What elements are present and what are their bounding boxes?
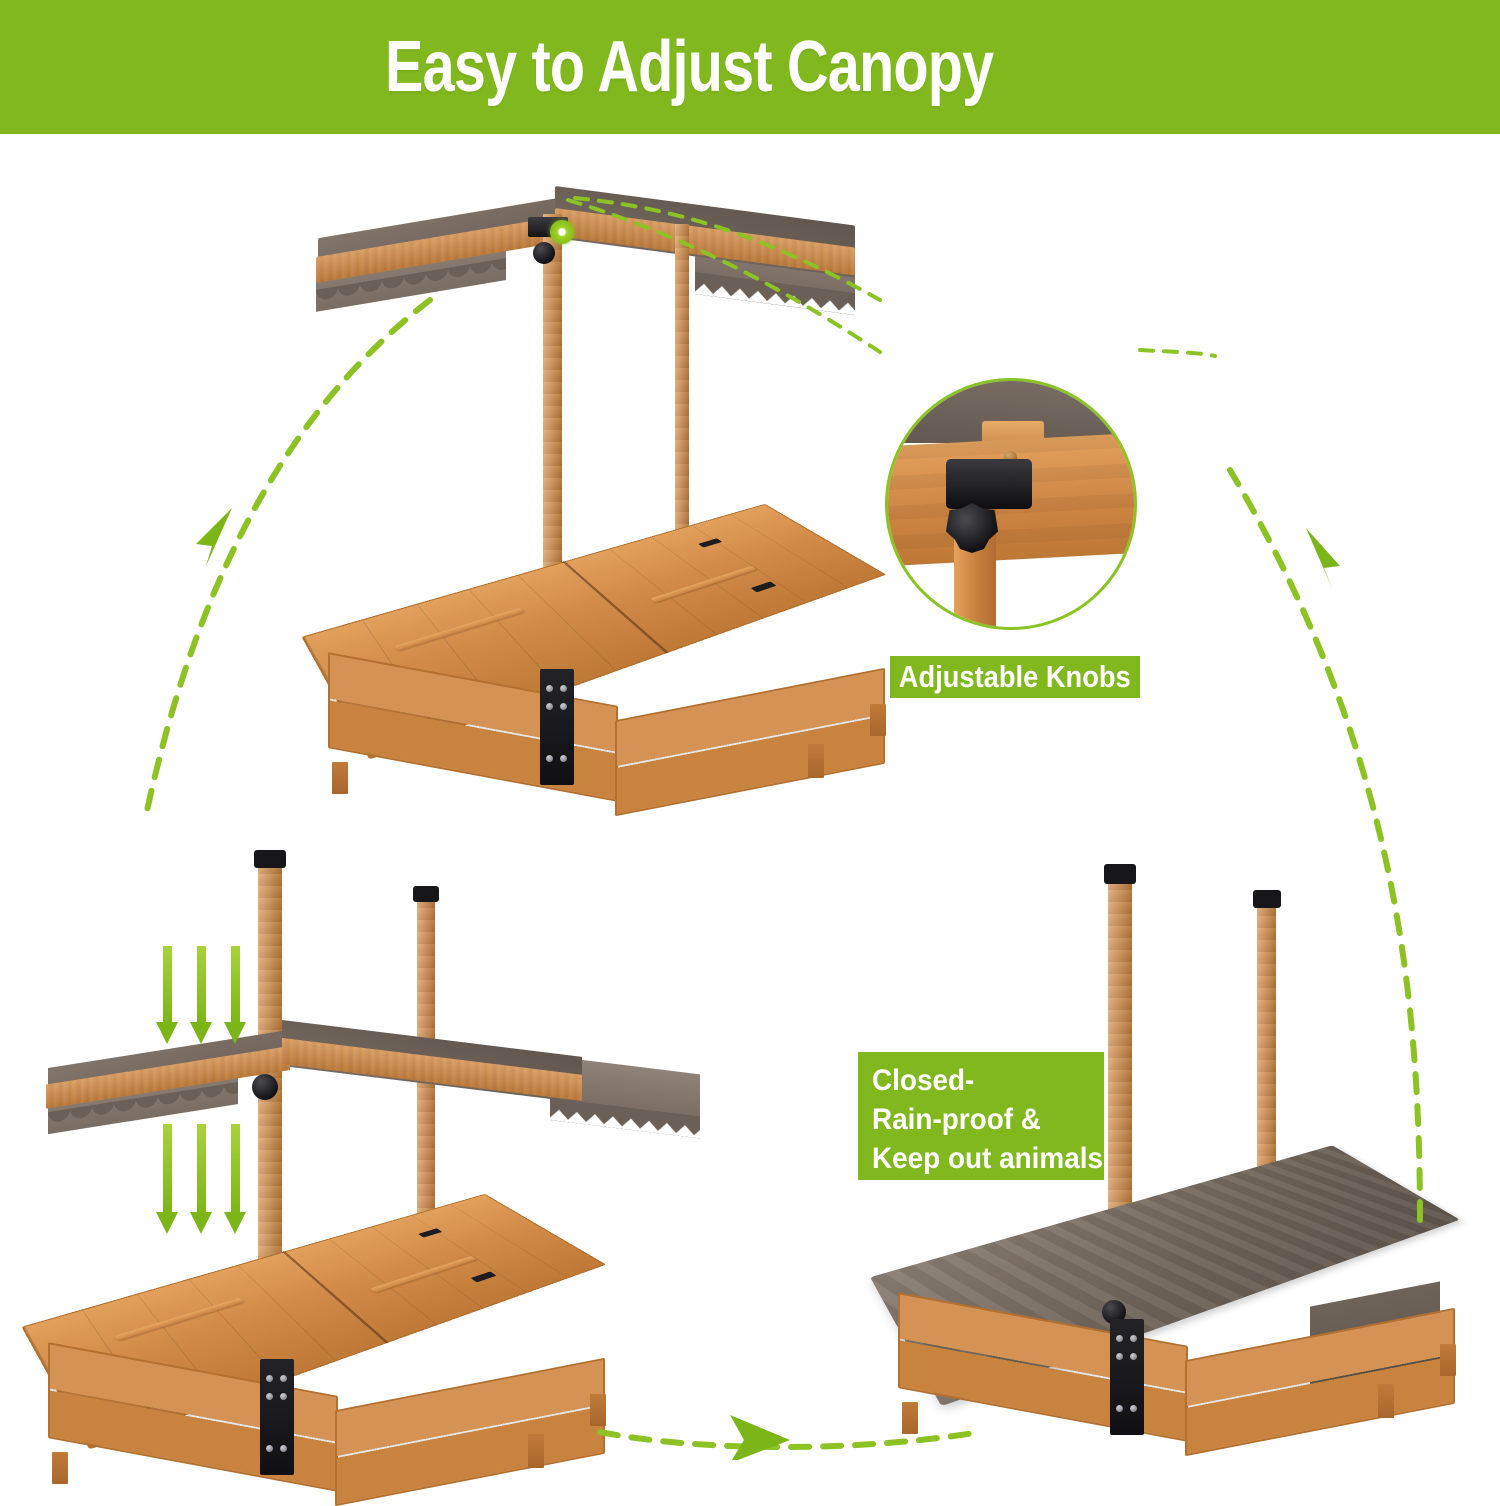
sandbox-front-right-face-lowered: [335, 1358, 605, 1506]
sandbox-leg-left-closed: [902, 1402, 918, 1434]
sandbox-leg-right-closed: [1378, 1384, 1394, 1418]
canopy-zigzag-edge: [695, 272, 855, 315]
closed-rainproof-callout: Closed- Rain-proof & Keep out animals: [858, 1052, 1104, 1180]
adjust-knob-icon: [533, 242, 555, 264]
sandbox-leg-left: [332, 762, 348, 794]
down-arrows-above-canopy: [163, 946, 273, 1024]
sandbox-post-mount-plate-lowered: [260, 1359, 294, 1475]
sandbox-canopy-raised-image: [300, 164, 920, 784]
closed-callout-line-1: Closed-: [872, 1061, 1088, 1100]
down-arrows-below-canopy: [163, 1124, 273, 1214]
canopy-zigzag-edge-lowered: [550, 1098, 700, 1138]
product-illustration-stage: Adjustable Knobs: [0, 134, 1500, 1460]
sandbox-leg-right-lowered: [528, 1434, 544, 1468]
post-cap-back-closed-icon: [1253, 890, 1281, 908]
sandbox-front-right-face: [615, 668, 885, 816]
page-title: Easy to Adjust Canopy: [385, 31, 993, 103]
sandbox-leg-left-lowered: [52, 1452, 68, 1484]
post-cap-front-icon: [254, 850, 286, 868]
post-cap-back-icon: [413, 886, 439, 902]
zoom-bracket: [946, 459, 1032, 509]
sandbox-post-mount-plate-closed: [1110, 1319, 1144, 1435]
header-banner: Easy to Adjust Canopy: [0, 0, 1500, 134]
sandbox-leg-back-closed: [1440, 1344, 1456, 1376]
closed-callout-line-3: Keep out animals: [872, 1139, 1088, 1178]
sandbox-canopy-lowered-image: [30, 834, 710, 1454]
closed-callout-line-2: Rain-proof &: [872, 1100, 1088, 1139]
adjustable-knobs-label: Adjustable Knobs: [899, 659, 1131, 695]
sandbox-post-mount-plate: [540, 669, 574, 785]
knob-location-dot-icon: [550, 220, 574, 244]
sandbox-leg-right: [808, 744, 824, 778]
adjustable-knobs-label-bar: Adjustable Knobs: [890, 656, 1140, 698]
sandbox-leg-back: [870, 704, 886, 736]
sandbox-leg-back-lowered: [590, 1394, 606, 1426]
adjust-knob-lowered-icon: [252, 1074, 278, 1100]
post-cap-front-closed-icon: [1104, 864, 1136, 884]
knob-zoom-circle: [885, 378, 1137, 630]
adjustable-knobs-callout: Adjustable Knobs: [885, 378, 1137, 698]
